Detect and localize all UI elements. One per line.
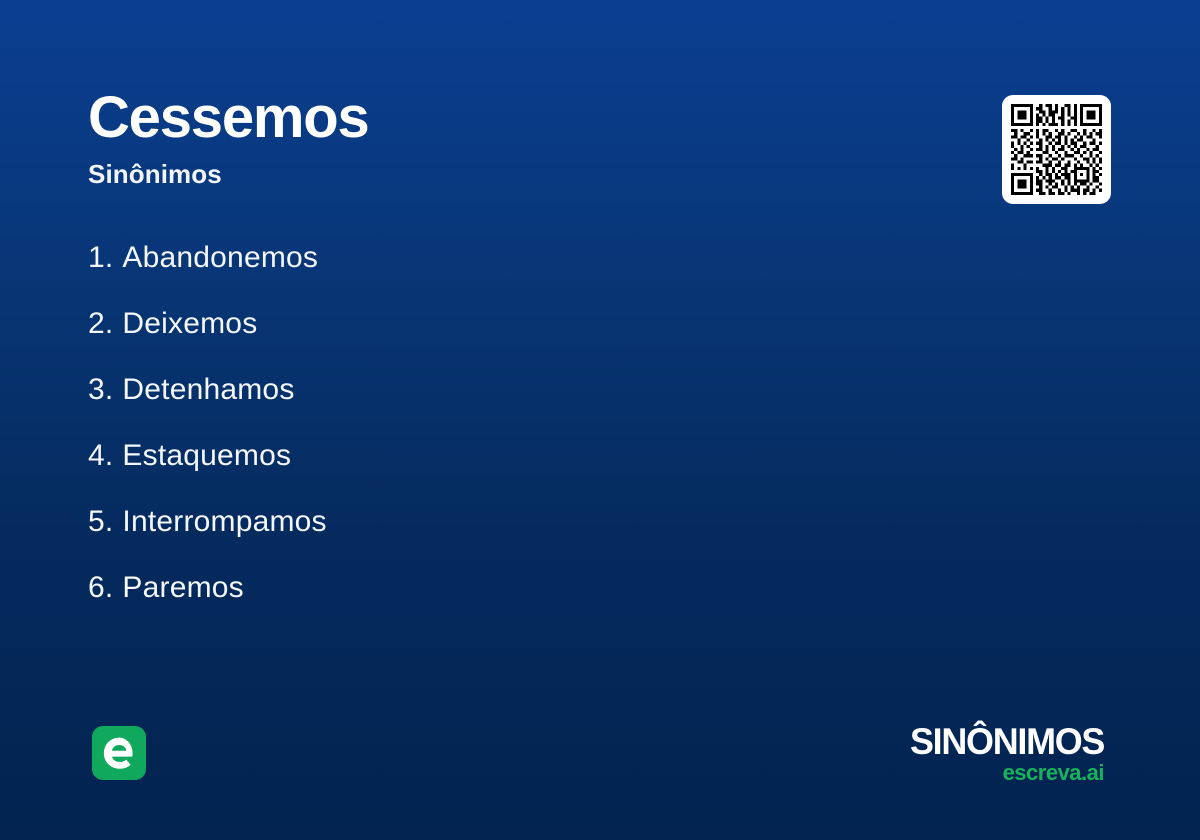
list-item: 4.Estaquemos bbox=[88, 436, 327, 502]
page-subtitle: Sinônimos bbox=[88, 159, 369, 190]
list-item-index: 1. bbox=[88, 241, 113, 274]
list-item-index: 3. bbox=[88, 373, 113, 406]
brand-lockup: SINÔNIMOS escreva.ai bbox=[904, 723, 1104, 784]
list-item-index: 4. bbox=[88, 439, 113, 472]
list-item: 2.Deixemos bbox=[88, 304, 327, 370]
list-item: 5.Interrompamos bbox=[88, 502, 327, 568]
list-item: 6.Paremos bbox=[88, 568, 327, 634]
synonym-list: 1.Abandonemos 2.Deixemos 3.Detenhamos 4.… bbox=[88, 238, 327, 634]
app-logo-badge[interactable] bbox=[92, 726, 146, 780]
list-item-index: 5. bbox=[88, 505, 113, 538]
header: Cessemos Sinônimos bbox=[88, 88, 369, 190]
synonym-card: Cessemos Sinônimos 1.Abandonemos 2.Deixe… bbox=[0, 0, 1200, 840]
list-item-label: Estaquemos bbox=[122, 439, 291, 472]
escreva-e-logo-icon bbox=[92, 726, 146, 780]
list-item-label: Paremos bbox=[122, 571, 243, 604]
list-item: 3.Detenhamos bbox=[88, 370, 327, 436]
brand-name: SINÔNIMOS bbox=[910, 723, 1104, 760]
qr-code-icon bbox=[1011, 104, 1102, 195]
brand-tagline: escreva.ai bbox=[904, 762, 1104, 784]
list-item-label: Abandonemos bbox=[122, 241, 318, 274]
list-item-index: 2. bbox=[88, 307, 113, 340]
list-item-index: 6. bbox=[88, 571, 113, 604]
qr-code[interactable] bbox=[1002, 95, 1111, 204]
list-item-label: Deixemos bbox=[122, 307, 257, 340]
list-item-label: Detenhamos bbox=[122, 373, 294, 406]
list-item-label: Interrompamos bbox=[122, 505, 326, 538]
list-item: 1.Abandonemos bbox=[88, 238, 327, 304]
page-title: Cessemos bbox=[88, 88, 369, 149]
